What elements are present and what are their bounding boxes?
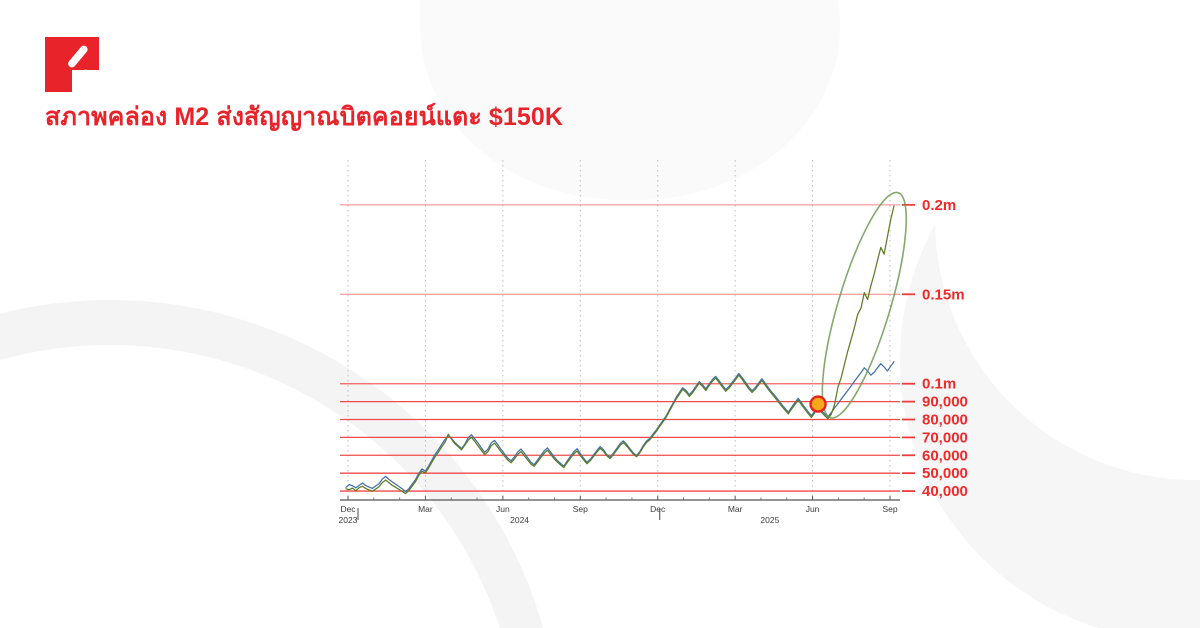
y-tick-label: 70,000 <box>922 429 968 446</box>
y-tick-label: 50,000 <box>922 465 968 482</box>
y-tick-label: 80,000 <box>922 412 968 429</box>
trend-ellipse-annotation <box>806 185 923 425</box>
y-tick-label: 90,000 <box>922 394 968 411</box>
brand-logo-icon <box>45 37 99 92</box>
y-tick-label: 40,000 <box>922 483 968 500</box>
x-tick-label: Mar <box>728 504 743 514</box>
infographic-canvas: สภาพคล่อง M2 ส่งสัญญาณบิตคอยน์แตะ $150K … <box>0 0 1200 628</box>
highlight-marker-icon <box>811 397 826 412</box>
horizontal-gridlines <box>340 205 900 491</box>
x-year-label: 2024 <box>510 515 529 525</box>
page-title: สภาพคล่อง M2 ส่งสัญญาณบิตคอยน์แตะ $150K <box>45 102 563 133</box>
series-bitcoin-price <box>346 362 894 492</box>
chart-container: 0.2m0.15m0.1m90,00080,00070,00060,00050,… <box>0 150 1200 550</box>
x-tick-label: Mar <box>418 504 433 514</box>
x-year-label: 2025 <box>760 515 779 525</box>
y-tick-label: 0.15m <box>922 286 965 303</box>
x-tick-label: Jun <box>496 504 510 514</box>
x-tick-label: Dec <box>340 504 356 514</box>
x-tick-label: Sep <box>882 504 897 514</box>
line-chart: 0.2m0.15m0.1m90,00080,00070,00060,00050,… <box>0 150 1200 550</box>
y-tick-label: 60,000 <box>922 447 968 464</box>
vertical-gridlines <box>348 160 890 500</box>
y-tick-label: 0.1m <box>922 376 956 393</box>
x-tick-label: Sep <box>573 504 588 514</box>
series-m2-global-liquidity <box>346 206 894 493</box>
x-axis-labels: DecMarJunSepDecMarJunSep <box>340 504 897 514</box>
series-layer <box>346 206 894 493</box>
x-axis-year-labels: 202320242025 <box>339 515 780 525</box>
y-axis-labels: 0.2m0.15m0.1m90,00080,00070,00060,00050,… <box>922 197 968 500</box>
x-year-label: 2023 <box>339 515 358 525</box>
brand-logo <box>45 37 99 92</box>
x-tick-label: Jun <box>806 504 820 514</box>
annotation-layer <box>806 185 923 425</box>
y-tick-label: 0.2m <box>922 197 956 214</box>
x-tick-label: Dec <box>650 504 666 514</box>
